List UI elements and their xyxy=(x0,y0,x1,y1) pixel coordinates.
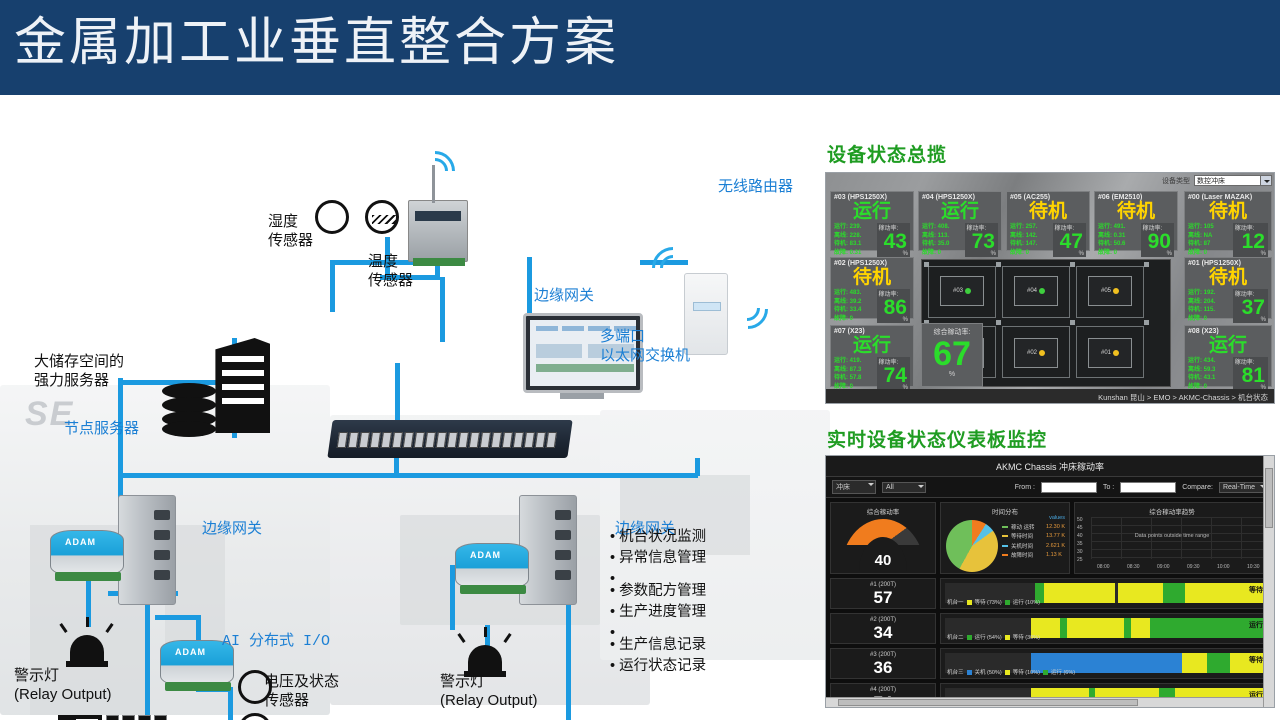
legend-item: 故障时间 1.13 K xyxy=(1002,551,1065,559)
machine-summary-card[interactable]: #1 (200T) 57 xyxy=(830,578,936,609)
machine-name: #3 (200T) xyxy=(831,649,935,658)
machine-status-timeline[interactable]: 运行 机台二 运行 (54%) 等待 (30%) xyxy=(940,613,1270,644)
metric-label-offline: 离线: xyxy=(922,233,936,239)
horizontal-scrollbar[interactable] xyxy=(826,697,1263,707)
machine-id: #04 (HPS1250X) xyxy=(922,194,998,201)
bullet-spacer xyxy=(610,569,706,581)
legend-value: 12.30 K xyxy=(1046,524,1065,530)
status-led-run xyxy=(1039,288,1045,294)
utilization-trend-widget[interactable]: 综合稼动率趋势 Data points outside time range 5… xyxy=(1074,502,1270,574)
bullet-item: 生产信息记录 xyxy=(610,635,706,656)
ethernet-switch-icon xyxy=(327,420,572,458)
to-label: To : xyxy=(1103,484,1114,491)
wire xyxy=(330,260,335,312)
status-led-idle xyxy=(1113,288,1119,294)
status-led-idle xyxy=(1039,350,1045,356)
metric-label-offline: 离线: xyxy=(834,233,848,239)
realtime-dashboard-title: 实时设备状态仪表板监控 xyxy=(827,425,1047,452)
rate-percent: % xyxy=(991,251,996,257)
scrollbar-thumb[interactable] xyxy=(1265,468,1273,528)
legend-prefix: 机台一 xyxy=(947,598,964,606)
machine-rate: 稼动率: 12 % xyxy=(1233,223,1268,257)
machine-card[interactable]: #07 (X23) 运行 运行: 419. 离线: 87.3 待机: 57.8 … xyxy=(830,325,914,387)
legend-prefix: 机台三 xyxy=(947,668,964,676)
pie-chart xyxy=(946,520,998,572)
legend-swatch xyxy=(1002,526,1008,528)
legend-name: 故障时间 xyxy=(1011,551,1043,559)
label-ai-distributed-io: AI 分布式 I/O xyxy=(222,633,330,652)
metric-idle: 33.4 xyxy=(850,307,862,313)
machine-rate: 稼动率: 90 % xyxy=(1141,223,1174,257)
y-tick: 35 xyxy=(1077,541,1083,547)
machine-metrics: 运行: 408. 离线: 113. 待机: 35.0 故障: 0 xyxy=(922,223,965,257)
metric-label-run: 运行: xyxy=(1188,290,1202,296)
machine-metrics: 运行: 105 离线: NA 待机: 87 故障: 0 xyxy=(1188,223,1233,257)
metric-label-run: 运行: xyxy=(1010,224,1024,230)
label-ethernet-switch: 多端口 以太网交换机 xyxy=(600,328,690,366)
metric-run: 239. xyxy=(850,224,862,230)
metric-idle: 35.0 xyxy=(938,241,950,247)
metric-label-idle: 待机: xyxy=(834,307,848,313)
timeline-legend: 机台二 运行 (54%) 等待 (30%) xyxy=(947,633,1040,641)
legend-prefix: 机台二 xyxy=(947,633,964,641)
metric-label-offline: 离线: xyxy=(834,299,848,305)
machine-card[interactable]: #08 (X23) 运行 运行: 434. 离线: 59.3 待机: 43.1 … xyxy=(1184,325,1272,387)
y-tick: 40 xyxy=(1077,533,1083,539)
legend-swatch xyxy=(1002,545,1008,547)
x-tick: 08:30 xyxy=(1127,564,1140,570)
metric-label-fault: 故障: xyxy=(1098,250,1112,256)
metric-label-offline: 离线: xyxy=(1098,233,1112,239)
x-tick: 10:00 xyxy=(1217,564,1230,570)
machine-type-select[interactable]: 冲床 xyxy=(832,480,876,494)
metric-offline: 113. xyxy=(938,233,949,239)
label-humidity-sensor: 湿度 传感器 xyxy=(268,213,313,251)
machine-id: #01 (HPS1250X) xyxy=(1188,260,1268,267)
x-tick: 09:30 xyxy=(1187,564,1200,570)
bullet-item: 参数配方管理 xyxy=(610,581,706,602)
trend-title: 综合稼动率趋势 xyxy=(1075,503,1269,517)
from-input[interactable] xyxy=(1041,482,1097,493)
y-tick: 30 xyxy=(1077,549,1083,555)
machine-name: #2 (200T) xyxy=(831,614,935,623)
rate-value: 74 xyxy=(877,366,910,386)
y-tick: 50 xyxy=(1077,517,1083,523)
wire xyxy=(228,687,233,720)
legend-name: 等待 (73%) xyxy=(975,598,1002,606)
machine-rate: 稼动率: 43 % xyxy=(877,223,910,257)
status-badge: 等待 xyxy=(1249,655,1263,665)
metric-label-fault: 故障: xyxy=(922,250,936,256)
metric-fault: 0.31 xyxy=(850,250,862,256)
adam-brand-label: ADAM xyxy=(65,537,96,547)
wire xyxy=(155,615,200,620)
machine-state: 运行 xyxy=(922,201,998,223)
metric-label-idle: 待机: xyxy=(922,241,936,247)
machine-state: 运行 xyxy=(834,335,910,357)
gauge-value: 40 xyxy=(841,552,925,569)
humidity-sensor-icon xyxy=(315,200,349,234)
metric-label-offline: 离线: xyxy=(834,367,848,373)
x-tick: 09:00 xyxy=(1157,564,1170,570)
legend-name: 等待 (30%) xyxy=(1013,633,1040,641)
rate-percent: % xyxy=(1079,251,1084,257)
metric-offline: 0.31 xyxy=(1114,233,1126,239)
rate-value: 86 xyxy=(877,298,910,318)
rate-value: 73 xyxy=(965,232,998,252)
machine-type-value: 冲床 xyxy=(836,484,850,491)
pie-legend: values 稼动 运转 12.30 K 等待时间 13.77 K 关机时间 xyxy=(1002,515,1065,559)
legend-swatch xyxy=(1002,535,1008,537)
legend-swatch xyxy=(967,635,972,640)
metric-idle: 115. xyxy=(1204,307,1215,313)
machine-status-timeline[interactable]: 等待 机台一 等待 (73%) 运行 (10%) xyxy=(940,578,1270,609)
metric-label-run: 运行: xyxy=(922,224,936,230)
machine-summary-card[interactable]: #3 (200T) 36 xyxy=(830,648,936,679)
legend-name: 运行 (10%) xyxy=(1013,598,1040,606)
metric-offline: 59.3 xyxy=(1204,367,1216,373)
machine-metrics: 运行: 239. 离线: 228. 待机: 83.1 故障: 0.31 xyxy=(834,223,877,257)
bullet-item: 运行状态记录 xyxy=(610,656,706,677)
timeline-legend: 机台一 等待 (73%) 运行 (10%) xyxy=(947,598,1040,606)
legend-swatch xyxy=(1002,554,1008,556)
floor-machine[interactable]: #02 xyxy=(1014,338,1058,368)
metric-run: 491. xyxy=(1114,224,1126,230)
machine-rate: 稼动率: 74 % xyxy=(877,357,910,391)
legend-swatch xyxy=(1005,600,1010,605)
machine-card[interactable]: #05 (AC255) 待机 运行: 257. 离线: 142. 待机: 147… xyxy=(1006,191,1090,251)
label-alarm-light-right: 警示灯 (Relay Output) xyxy=(440,673,538,711)
chevron-down-icon xyxy=(868,483,874,486)
label-edge-gateway-top: 边缘网关 xyxy=(534,287,594,306)
machine-card[interactable]: #02 (HPS1250X) 待机 运行: 483. 离线: 39.2 待机: … xyxy=(830,257,914,319)
metric-label-idle: 待机: xyxy=(1188,375,1202,381)
metric-label-offline: 离线: xyxy=(1010,233,1024,239)
legend-swatch xyxy=(1043,670,1048,675)
adam-brand-label: ADAM xyxy=(175,647,206,657)
floor-machine-tag: #03 xyxy=(953,288,963,294)
gauge-icon: 40 xyxy=(841,519,925,571)
x-tick: 08:00 xyxy=(1097,564,1110,570)
filter-label: 设备类型 xyxy=(1162,176,1190,186)
legend-name: 运行 (6%) xyxy=(1051,668,1075,676)
legend-values-header: values xyxy=(1002,515,1065,521)
metric-label-run: 运行: xyxy=(1188,358,1202,364)
rate-value: 47 xyxy=(1053,232,1086,252)
machine-id: #03 (HPS1250X) xyxy=(834,194,910,201)
rate-percent: % xyxy=(1167,251,1172,257)
machine-state: 待机 xyxy=(1188,267,1268,289)
legend-item: 稼动 运转 12.30 K xyxy=(1002,523,1065,531)
machine-metrics: 运行: 483. 离线: 39.2 待机: 33.4 故障: 0 xyxy=(834,289,877,323)
machine-card[interactable]: #06 (EM2510) 待机 运行: 491. 离线: 0.31 待机: 50… xyxy=(1094,191,1178,251)
machine-rate: 稼动率: 86 % xyxy=(877,289,910,323)
machine-name: #1 (200T) xyxy=(831,579,935,588)
metric-idle: 147. xyxy=(1026,241,1038,247)
feature-bullet-list: 机台状况监测 异常信息管理 参数配方管理 生产进度管理 生产信息记录 运行状态记… xyxy=(610,527,706,677)
dashboard-widgets-row: 综合稼动率 40 时间分布 values 稼动 运转 12.30 K xyxy=(826,498,1274,578)
time-distribution-widget[interactable]: 时间分布 values 稼动 运转 12.30 K 等待时间 13.77 K xyxy=(940,502,1070,574)
equipment-overview-screenshot: 设备类型 数控冲床 #03 (HPS1250X) 运行 运行: 239. 离线:… xyxy=(825,172,1275,404)
machine-metrics: 运行: 491. 离线: 0.31 待机: 50.6 故障: 0 xyxy=(1098,223,1141,257)
metric-label-offline: 离线: xyxy=(1188,299,1202,305)
machine-metrics: 运行: 434. 离线: 59.3 待机: 43.1 故障: 0 xyxy=(1188,357,1233,391)
machine-metrics: 运行: 192. 离线: 204. 待机: 115. 故障: 0 xyxy=(1188,289,1233,323)
equipment-type-select[interactable]: 数控冲床 xyxy=(1194,175,1272,186)
metric-offline: 142. xyxy=(1026,233,1038,239)
machine-id: #00 (Laser MAZAK) xyxy=(1188,194,1268,201)
legend-swatch xyxy=(1005,670,1010,675)
utilization-gauge-widget[interactable]: 综合稼动率 40 xyxy=(830,502,936,574)
slide-root: 金属加工业垂直整合方案 SE SEA xyxy=(0,0,1280,720)
machine-id: #08 (X23) xyxy=(1188,328,1268,335)
metric-label-fault: 故障: xyxy=(834,250,848,256)
floor-machine-tag: #02 xyxy=(1027,350,1037,356)
wireless-field-device xyxy=(408,200,468,262)
from-label: From : xyxy=(1015,484,1035,491)
metric-label-fault: 故障: xyxy=(834,316,848,322)
bullet-item: 生产进度管理 xyxy=(610,602,706,623)
breadcrumb: Kunshan 昆山 > EMO > AKMC-Chassis > 机台状态 xyxy=(826,389,1274,403)
metric-run: 419. xyxy=(850,358,862,364)
machine-state: 待机 xyxy=(1010,201,1086,223)
machine-status-timeline[interactable]: 等待 机台三 关机 (50%) 等待 (10%) 运行 (6%) xyxy=(940,648,1270,679)
machine-timeline-row: #3 (200T) 36 等待 机台三 关机 (50%) 等待 (10%) xyxy=(826,648,1274,683)
machine-card[interactable]: #00 (Laser MAZAK) 待机 运行: 105 离线: NA 待机: … xyxy=(1184,191,1272,251)
label-voltage-status-sensor: 电压及状态 传感器 xyxy=(264,673,339,711)
rate-value: 12 xyxy=(1233,232,1268,252)
machine-id: #06 (EM2510) xyxy=(1098,194,1174,201)
metric-label-run: 运行: xyxy=(834,358,848,364)
metric-label-run: 运行: xyxy=(834,224,848,230)
machine-value: 34 xyxy=(831,623,935,643)
metric-idle: 43.1 xyxy=(1204,375,1216,381)
machine-state: 运行 xyxy=(1188,335,1268,357)
x-tick: 10:30 xyxy=(1247,564,1260,570)
metric-fault: 0 xyxy=(938,250,941,256)
legend-swatch xyxy=(1005,635,1010,640)
machine-card[interactable]: #03 (HPS1250X) 运行 运行: 239. 离线: 228. 待机: … xyxy=(830,191,914,251)
scrollbar-thumb[interactable] xyxy=(838,699,1138,706)
chevron-down-icon xyxy=(918,485,924,488)
metric-label-idle: 待机: xyxy=(834,375,848,381)
legend-name: 关机时间 xyxy=(1011,542,1043,550)
bullet-spacer xyxy=(610,623,706,635)
overall-value: 67 xyxy=(922,337,982,371)
bullet-item: 异常信息管理 xyxy=(610,548,706,569)
metric-label-fault: 故障: xyxy=(1010,250,1024,256)
machine-value: 57 xyxy=(831,588,935,608)
equipment-type-value: 数控冲床 xyxy=(1197,178,1225,185)
compare-value: Real-Time xyxy=(1223,484,1255,491)
floor-machine-tag: #01 xyxy=(1101,350,1111,356)
overall-utilization-card: 综合稼动率: 67 % xyxy=(921,323,983,387)
metric-fault: 0 xyxy=(850,316,853,322)
metric-label-run: 运行: xyxy=(834,290,848,296)
label-alarm-light-left: 警示灯 (Relay Output) xyxy=(14,667,112,705)
floor-machine[interactable]: #04 xyxy=(1014,276,1058,306)
status-badge: 等待 xyxy=(1249,585,1263,595)
label-edge-gateway-left: 边缘网关 xyxy=(202,520,262,539)
legend-name: 稼动 运转 xyxy=(1011,523,1043,531)
metric-run: 192. xyxy=(1204,290,1216,296)
metric-label-fault: 故障: xyxy=(1188,316,1202,322)
adam-brand-label: ADAM xyxy=(470,550,501,560)
chevron-down-icon xyxy=(1260,176,1271,185)
metric-fault: 0 xyxy=(1204,316,1207,322)
machine-id: #02 (HPS1250X) xyxy=(834,260,910,267)
metric-fault: 0 xyxy=(1204,250,1207,256)
machine-card[interactable]: #01 (HPS1250X) 待机 运行: 192. 离线: 204. 待机: … xyxy=(1184,257,1272,319)
temperature-sensor-icon xyxy=(365,200,399,234)
metric-run: 408. xyxy=(938,224,950,230)
dashboard-toolbar: 冲床 All From : To : Compare: Real-Time xyxy=(826,477,1274,498)
legend-swatch xyxy=(967,600,972,605)
metric-fault: 0 xyxy=(1026,250,1029,256)
status-led-run xyxy=(965,288,971,294)
machine-state: 运行 xyxy=(834,201,910,223)
network-bus xyxy=(118,473,698,478)
machine-metrics: 运行: 419. 离线: 87.3 待机: 57.8 故障: 0 xyxy=(834,357,877,391)
metric-offline: 87.3 xyxy=(850,367,862,373)
architecture-diagram: SE SEA xyxy=(0,95,820,720)
wire xyxy=(394,458,399,476)
legend-item: 等待时间 13.77 K xyxy=(1002,532,1065,540)
metric-label-offline: 离线: xyxy=(1188,233,1202,239)
wire xyxy=(695,458,700,476)
metric-label-offline: 离线: xyxy=(1188,367,1202,373)
hmi-stand xyxy=(560,393,604,399)
adam-module-left: ADAM xyxy=(50,530,124,576)
machine-name: #4 (200T) xyxy=(831,684,935,693)
label-wireless-router: 无线路由器 xyxy=(718,178,793,197)
wireless-router-icon xyxy=(684,273,728,355)
metric-label-run: 运行: xyxy=(1188,224,1202,230)
machine-id: #07 (X23) xyxy=(834,328,910,335)
beacon-ray xyxy=(484,627,487,637)
legend-item: 关机时间 2.621 K xyxy=(1002,542,1065,550)
rate-percent: % xyxy=(1261,317,1266,323)
metric-label-idle: 待机: xyxy=(1188,241,1202,247)
rate-value: 81 xyxy=(1233,366,1268,386)
to-input[interactable] xyxy=(1120,482,1176,493)
compare-select[interactable]: Real-Time xyxy=(1219,482,1268,493)
metric-offline: NA xyxy=(1204,233,1213,239)
machine-id: #05 (AC255) xyxy=(1010,194,1086,201)
bullet-item: 机台状况监测 xyxy=(610,527,706,548)
machine-timeline-row: #1 (200T) 57 等待 机台一 等待 (73%) 运行 (10%) xyxy=(826,578,1274,613)
metric-offline: 39.2 xyxy=(850,299,862,305)
wifi-signal-icon xyxy=(407,143,464,200)
label-powerful-server: 大储存空间的 强力服务器 xyxy=(34,353,124,391)
metric-fault: 0 xyxy=(1114,250,1117,256)
gauge-title: 综合稼动率 xyxy=(831,503,935,517)
legend-name: 关机 (50%) xyxy=(975,668,1002,676)
legend-name: 等待 (10%) xyxy=(1013,668,1040,676)
machine-card[interactable]: #04 (HPS1250X) 运行 运行: 408. 离线: 113. 待机: … xyxy=(918,191,1002,251)
legend-value: 2.621 K xyxy=(1046,543,1065,549)
machine-select-value: All xyxy=(886,484,894,491)
metric-idle: 87 xyxy=(1204,241,1211,247)
metric-label-idle: 待机: xyxy=(1188,307,1202,313)
label-temperature-sensor: 温度 传感器 xyxy=(368,253,413,291)
database-icon xyxy=(162,383,216,437)
y-tick: 25 xyxy=(1077,557,1083,563)
machine-summary-card[interactable]: #2 (200T) 34 xyxy=(830,613,936,644)
machine-select[interactable]: All xyxy=(882,482,926,493)
floor-machine[interactable]: #05 xyxy=(1088,276,1132,306)
metric-label-fault: 故障: xyxy=(1188,250,1202,256)
machine-state: 待机 xyxy=(834,267,910,289)
metric-label-idle: 待机: xyxy=(1098,241,1112,247)
overall-percent: % xyxy=(922,371,982,378)
equipment-filter-bar: 设备类型 数控冲床 xyxy=(1162,175,1272,186)
alarm-beacon-icon-left xyxy=(70,635,104,661)
floor-machine[interactable]: #03 xyxy=(940,276,984,306)
metric-idle: 83.1 xyxy=(850,241,862,247)
alarm-beacon-icon-right xyxy=(468,645,502,671)
wifi-signal-icon xyxy=(720,281,777,338)
machine-state: 待机 xyxy=(1188,201,1268,223)
machine-timeline-row: #2 (200T) 34 运行 机台二 运行 (54%) 等待 (30%) xyxy=(826,613,1274,648)
machine-rate: 稼动率: 47 % xyxy=(1053,223,1086,257)
metric-offline: 228. xyxy=(850,233,862,239)
metric-run: 105 xyxy=(1204,224,1214,230)
machine-rate: 稼动率: 73 % xyxy=(965,223,998,257)
status-badge: 运行 xyxy=(1249,620,1263,630)
metric-run: 483. xyxy=(850,290,862,296)
slide-header: 金属加工业垂直整合方案 xyxy=(0,0,1280,95)
vertical-scrollbar[interactable] xyxy=(1263,456,1274,707)
floor-machine-tag: #04 xyxy=(1027,288,1037,294)
adam-module-right: ADAM xyxy=(455,543,529,589)
equipment-overview-title: 设备状态总揽 xyxy=(827,140,947,167)
metric-run: 257. xyxy=(1026,224,1038,230)
timeline-legend: 机台三 关机 (50%) 等待 (10%) 运行 (6%) xyxy=(947,668,1075,676)
wire xyxy=(395,363,400,420)
metric-label-idle: 待机: xyxy=(1010,241,1024,247)
wire xyxy=(440,277,445,342)
beacon-ray xyxy=(86,617,89,627)
floor-machine-tag: #05 xyxy=(1101,288,1111,294)
machine-value: 36 xyxy=(831,658,935,678)
legend-name: 等待时间 xyxy=(1011,532,1043,540)
rate-percent: % xyxy=(903,317,908,323)
legend-name: 运行 (54%) xyxy=(975,633,1002,641)
label-node-server: 节点服务器 xyxy=(64,420,139,439)
edge-gateway-device-left xyxy=(118,495,176,605)
dashboard-title: AKMC Chassis 冲床稼动率 xyxy=(826,456,1274,477)
metric-label-run: 运行: xyxy=(1098,224,1112,230)
trend-empty-note: Data points outside time range xyxy=(1075,533,1269,539)
legend-value: 13.77 K xyxy=(1046,533,1065,539)
page-title: 金属加工业垂直整合方案 xyxy=(14,8,619,78)
realtime-dashboard-screenshot: AKMC Chassis 冲床稼动率 冲床 All From : To : Co… xyxy=(825,455,1275,708)
metric-label-idle: 待机: xyxy=(834,241,848,247)
metric-idle: 50.6 xyxy=(1114,241,1126,247)
floor-machine[interactable]: #01 xyxy=(1088,338,1132,368)
metric-offline: 204. xyxy=(1204,299,1216,305)
machine-metrics: 运行: 257. 离线: 142. 待机: 147. 故障: 0 xyxy=(1010,223,1053,257)
status-led-idle xyxy=(1113,350,1119,356)
legend-swatch xyxy=(967,670,972,675)
machine-state: 待机 xyxy=(1098,201,1174,223)
legend-value: 1.13 K xyxy=(1046,552,1062,558)
y-tick: 45 xyxy=(1077,525,1083,531)
rate-value: 90 xyxy=(1141,232,1174,252)
rate-value: 43 xyxy=(877,232,910,252)
machine-rate: 稼动率: 37 % xyxy=(1233,289,1268,323)
